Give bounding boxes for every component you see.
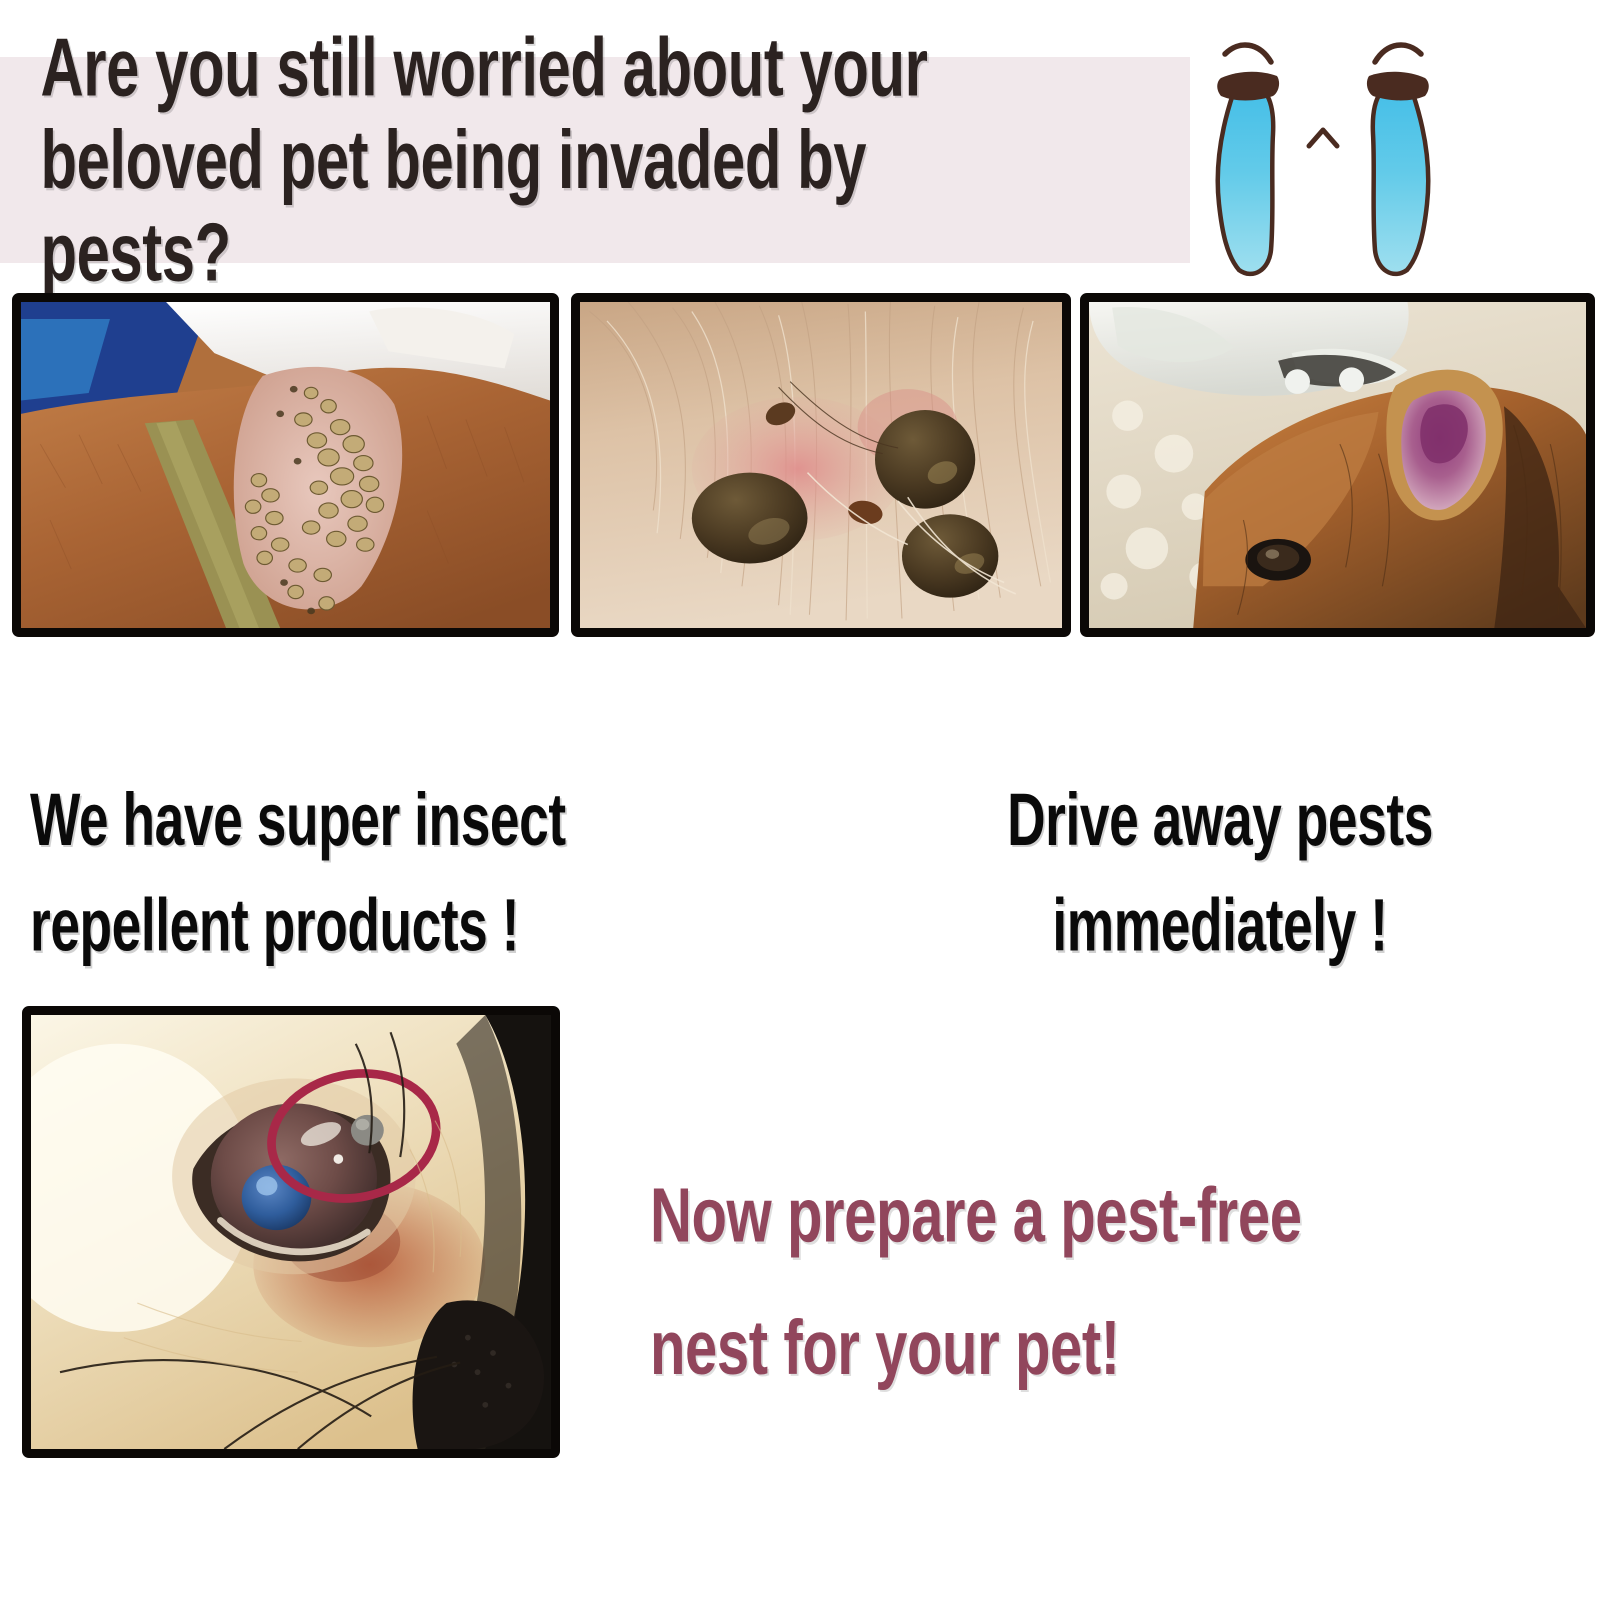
left-eyebrow-icon xyxy=(1225,45,1271,62)
slogan-left: We have super insect repellent products … xyxy=(30,768,684,979)
mouth-icon xyxy=(1309,130,1337,146)
slogan-right: Drive away pests immediately ! xyxy=(945,768,1495,979)
photo-tick-infested-neck xyxy=(12,293,559,637)
slogan-closing: Now prepare a pest-free nest for your pe… xyxy=(650,1150,1442,1413)
right-eye-icon xyxy=(1367,72,1429,101)
photo-inflamed-ear-lesion xyxy=(1080,293,1595,637)
promo-poster: Are you still worried about your beloved… xyxy=(0,0,1601,1601)
crying-face-icon xyxy=(1213,18,1433,280)
tick xyxy=(692,473,808,564)
headline-band: Are you still worried about your beloved… xyxy=(0,57,1190,263)
photo-tick-near-eye xyxy=(22,1006,560,1458)
left-eye-icon xyxy=(1217,72,1279,101)
tick-on-eyelid xyxy=(351,1115,384,1146)
problem-photo-row xyxy=(0,293,1601,638)
photo-engorged-ticks-closeup xyxy=(571,293,1071,637)
tick xyxy=(902,514,998,597)
left-tear-icon xyxy=(1218,92,1273,274)
right-eyebrow-icon xyxy=(1375,45,1421,62)
right-tear-icon xyxy=(1373,92,1428,274)
tick xyxy=(875,410,975,509)
page-title: Are you still worried about your beloved… xyxy=(0,21,1047,300)
